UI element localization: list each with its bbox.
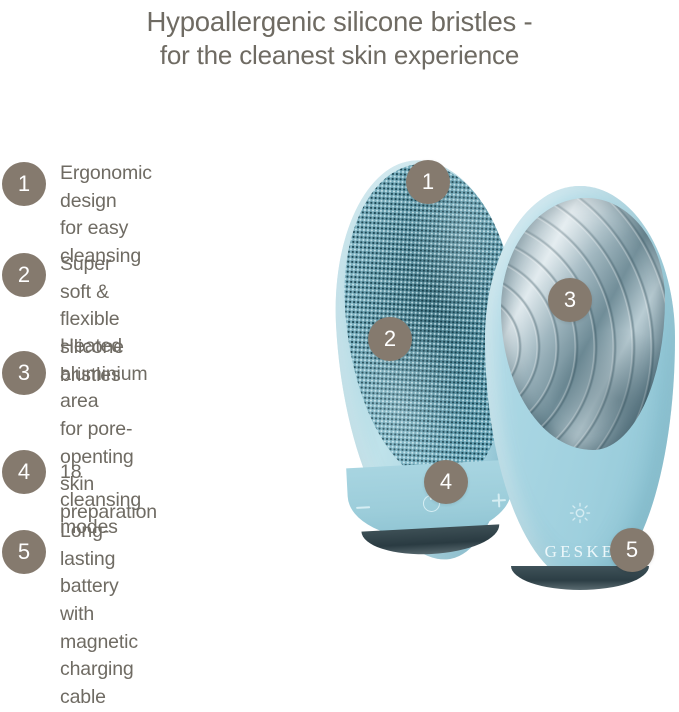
page-title: Hypoallergenic silicone bristles - for t…: [0, 6, 679, 71]
callout-badge-5: 5: [610, 528, 654, 572]
callout-badge-4: 4: [424, 460, 468, 504]
callout-badge-2: 2: [368, 317, 412, 361]
feature-badge-3: 3: [2, 351, 46, 395]
heated-aluminium-disc: [501, 198, 665, 450]
sun-icon: [569, 502, 591, 524]
feature-text-5: Long-lasting battery with magnetic charg…: [60, 518, 138, 712]
minus-icon: [356, 506, 370, 509]
feature-badge-4: 4: [2, 450, 46, 494]
feature-badge-5: 5: [2, 530, 46, 574]
callout-badge-1: 1: [406, 160, 450, 204]
feature-badge-2: 2: [2, 253, 46, 297]
device-back-product: GESKE: [485, 186, 675, 586]
headline-line-1: Hypoallergenic silicone bristles -: [0, 6, 679, 38]
feature-badge-1: 1: [2, 162, 46, 206]
product-image: GESKE 1 2 3 4 5: [320, 150, 679, 594]
headline-line-2: for the cleanest skin experience: [0, 40, 679, 71]
callout-badge-3: 3: [548, 278, 592, 322]
